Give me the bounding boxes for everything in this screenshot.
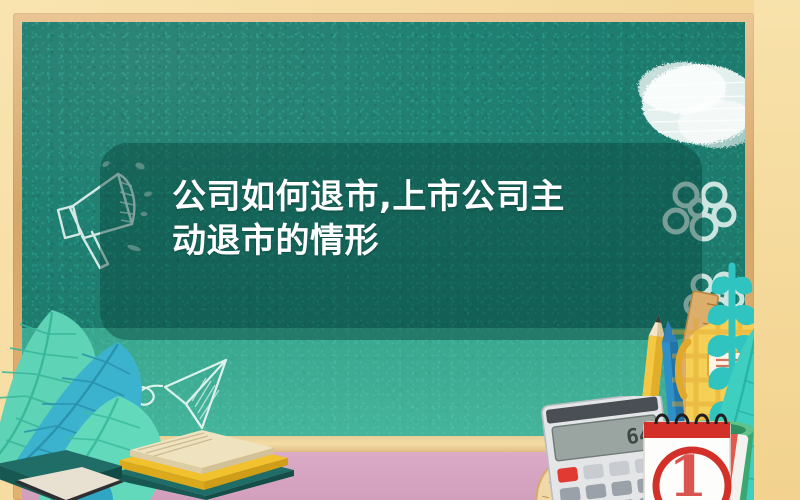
page-title: 公司如何退市,上市公司主 动退市的情形 xyxy=(172,176,642,263)
right-mat-strip xyxy=(754,0,800,500)
book-stack-left xyxy=(108,420,298,500)
calendar-magnifier: 1 xyxy=(630,400,760,500)
page-title-line-2: 动退市的情形 xyxy=(172,220,642,264)
banner-image: 公司如何退市,上市公司主 动退市的情形 xyxy=(0,0,800,500)
book-blue-left xyxy=(0,448,126,500)
page-title-line-1: 公司如何退市,上市公司主 xyxy=(172,176,642,220)
